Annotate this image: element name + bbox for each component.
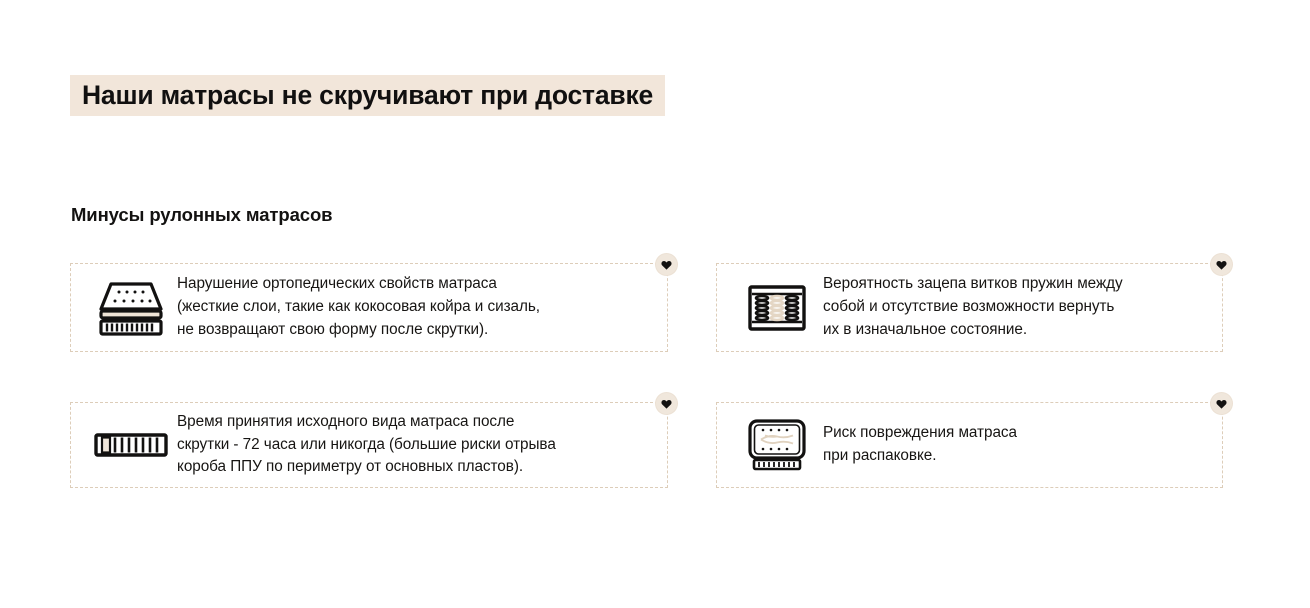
section-heading: Минусы рулонных матрасов [71, 204, 332, 226]
card-text: Нарушение ортопедических свойств матраса… [177, 273, 667, 341]
heart-badge[interactable] [1211, 393, 1232, 414]
card-text: Риск повреждения матраса при распаковке. [823, 422, 1222, 467]
heart-badge[interactable] [1211, 254, 1232, 275]
page-title: Наши матрасы не скручивают при доставке [82, 82, 653, 109]
heart-icon [661, 399, 672, 409]
heart-icon [1216, 260, 1227, 270]
card-text: Время принятия исходного вида матраса по… [177, 411, 667, 479]
card-spring-tangle: Вероятность зацепа витков пружин между с… [716, 263, 1223, 352]
spring-block-icon [731, 281, 823, 335]
card-unpacking-damage: Риск повреждения матраса при распаковке. [716, 402, 1223, 488]
heart-icon [661, 260, 672, 270]
heart-icon [1216, 399, 1227, 409]
card-ortho-loss: Нарушение ортопедических свойств матраса… [70, 263, 668, 352]
card-recovery-time: Время принятия исходного вида матраса по… [70, 402, 668, 488]
heart-badge[interactable] [656, 393, 677, 414]
layered-mattress-icon [85, 279, 177, 337]
heart-badge[interactable] [656, 254, 677, 275]
rolled-mattress-icon [85, 428, 177, 462]
mattress-top-view-icon [731, 417, 823, 473]
drawbacks-card-grid: Нарушение ортопедических свойств матраса… [70, 263, 1223, 488]
page-title-banner: Наши матрасы не скручивают при доставке [70, 75, 665, 116]
card-text: Вероятность зацепа витков пружин между с… [823, 273, 1222, 341]
